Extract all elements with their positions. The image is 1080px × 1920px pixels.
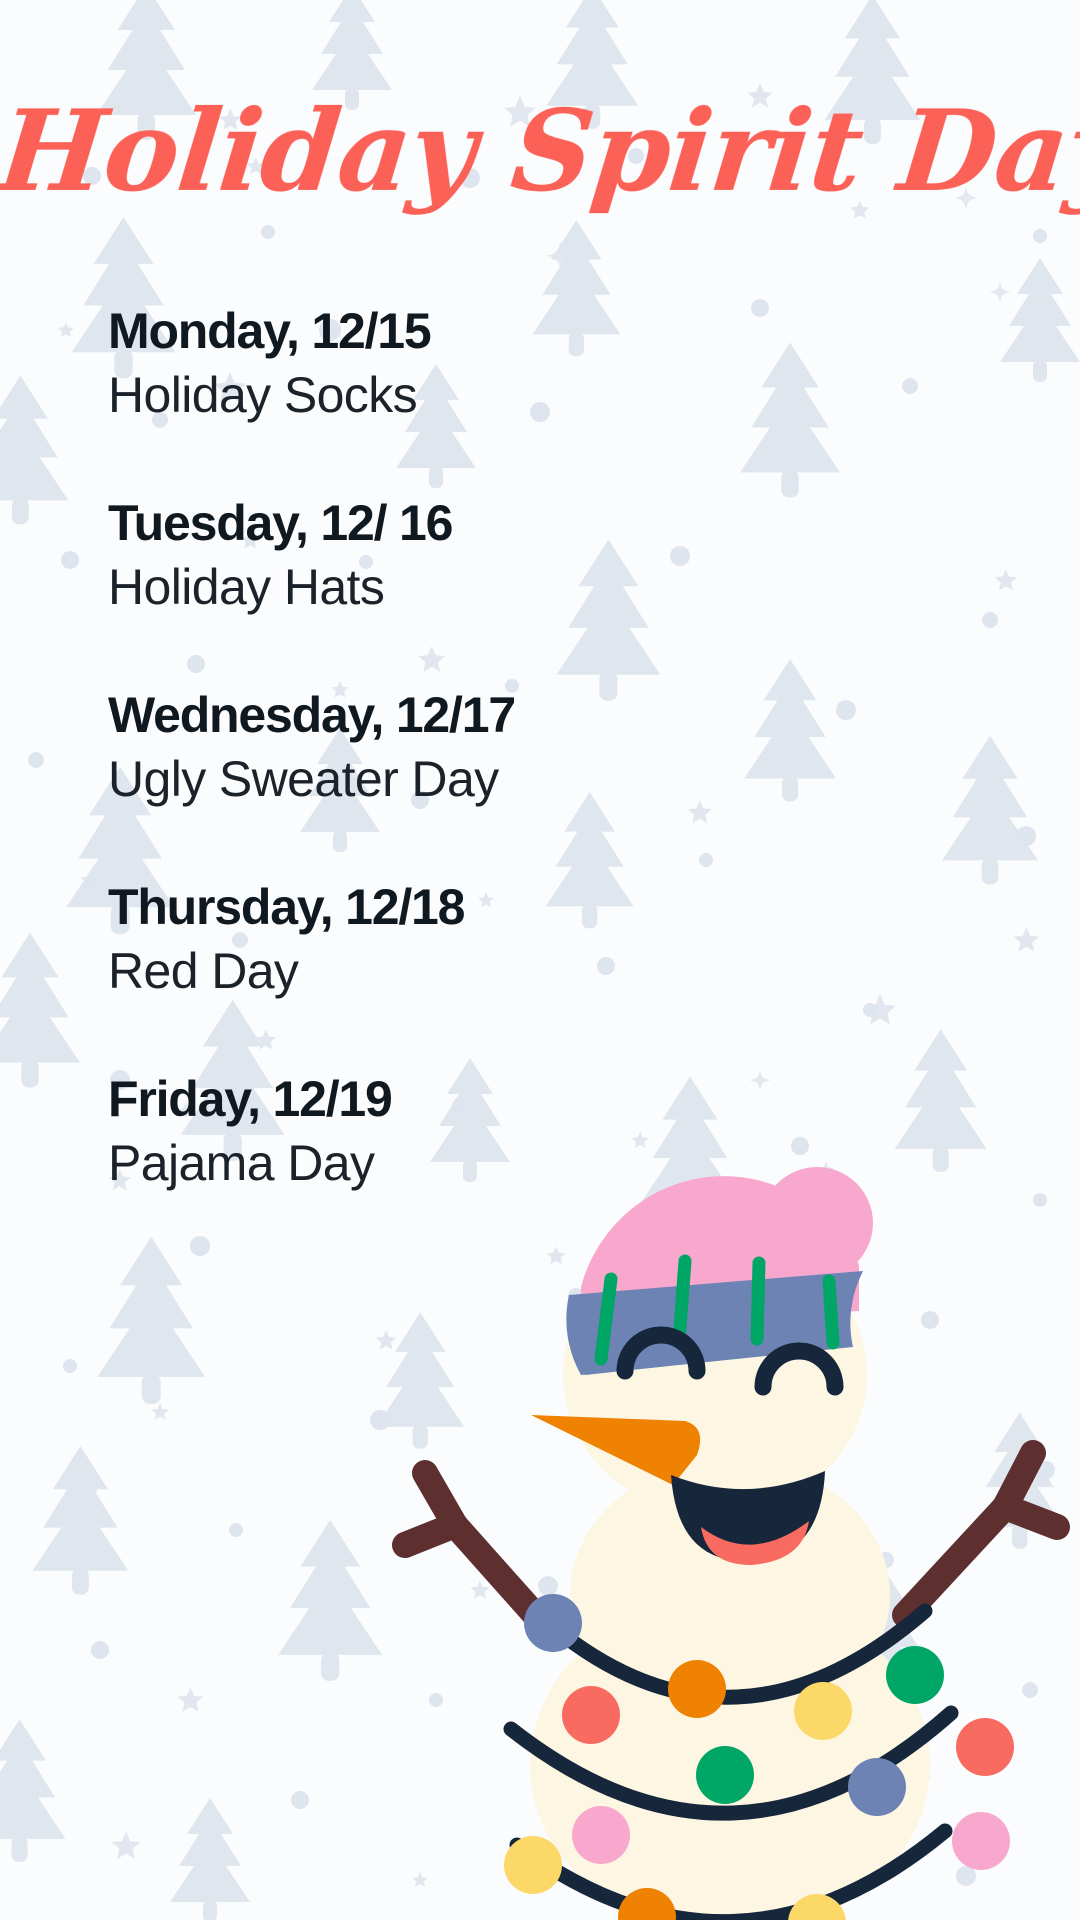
snowman-hat bbox=[566, 1167, 873, 1375]
day-label-wednesday: Wednesday, 12/17 bbox=[108, 684, 748, 747]
title-block: Holiday Spirit Days bbox=[0, 96, 1080, 208]
page-title: Holiday Spirit Days bbox=[0, 96, 1080, 208]
activity-label-monday: Holiday Socks bbox=[108, 363, 748, 428]
activity-label-tuesday: Holiday Hats bbox=[108, 555, 748, 620]
activity-label-wednesday: Ugly Sweater Day bbox=[108, 747, 748, 812]
day-label-monday: Monday, 12/15 bbox=[108, 300, 748, 363]
hat-pompom bbox=[761, 1167, 873, 1279]
schedule-entry-thursday: Thursday, 12/18 Red Day bbox=[108, 876, 748, 1004]
snowman-illustration bbox=[385, 1075, 1080, 1920]
schedule-entry-tuesday: Tuesday, 12/ 16 Holiday Hats bbox=[108, 492, 748, 620]
schedule-entry-monday: Monday, 12/15 Holiday Socks bbox=[108, 300, 748, 428]
day-label-thursday: Thursday, 12/18 bbox=[108, 876, 748, 939]
spirit-days-schedule: Monday, 12/15 Holiday Socks Tuesday, 12/… bbox=[108, 300, 748, 1196]
day-label-tuesday: Tuesday, 12/ 16 bbox=[108, 492, 748, 555]
schedule-entry-wednesday: Wednesday, 12/17 Ugly Sweater Day bbox=[108, 684, 748, 812]
activity-label-thursday: Red Day bbox=[108, 939, 748, 1004]
